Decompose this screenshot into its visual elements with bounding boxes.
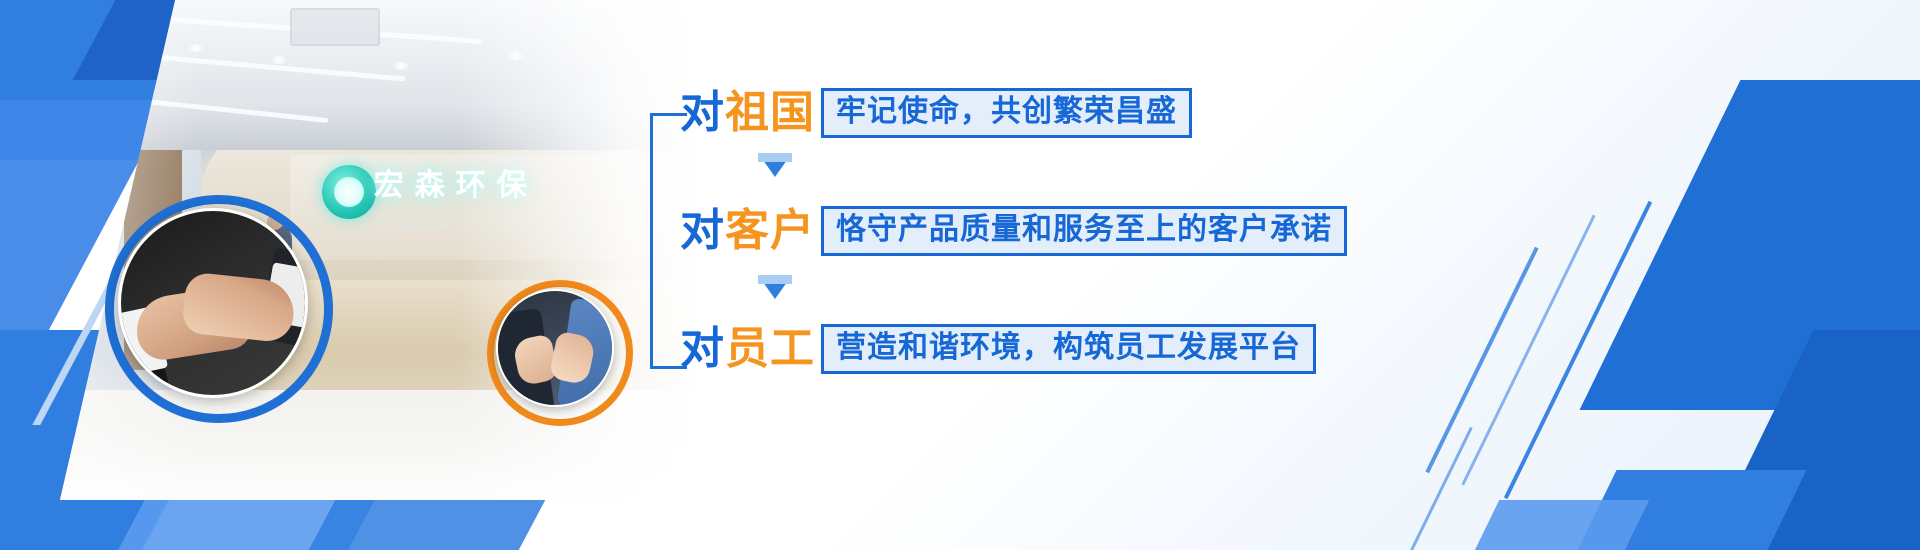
deco-shape-right-3	[1543, 470, 1806, 550]
value-slogan-text: 恪守产品质量和服务至上的客户承诺	[836, 212, 1332, 247]
value-slogan-box-country: 牢记使命，共创繁荣昌盛	[821, 88, 1192, 137]
value-slogan-box-employee: 营造和谐环境，构筑员工发展平台	[821, 324, 1316, 373]
value-heading-employee: 对员工	[680, 327, 815, 371]
value-target: 员工	[725, 324, 815, 373]
value-prefix: 对	[680, 324, 725, 373]
value-slogan-box-customer: 恪守产品质量和服务至上的客户承诺	[821, 206, 1347, 255]
value-row-employee: 对员工 营造和谐环境，构筑员工发展平台	[680, 321, 1380, 377]
deco-shape-right-2	[1687, 330, 1920, 550]
value-prefix: 对	[680, 206, 725, 255]
value-slogan-text: 营造和谐环境，构筑员工发展平台	[836, 330, 1301, 365]
value-target: 祖国	[725, 88, 815, 137]
values-rows: 对祖国 牢记使命，共创繁荣昌盛 对客户 恪守产品质量和服务至上的客户承诺 对员工	[680, 75, 1380, 377]
deco-shape-right-4	[1441, 500, 1650, 550]
handshake-photo	[118, 208, 308, 398]
company-values-banner: 宏森环保 HONGSEN ENVIRONMENTAL	[0, 0, 1920, 550]
value-target: 客户	[725, 206, 815, 255]
value-heading-customer: 对客户	[680, 209, 815, 253]
values-list: 对祖国 牢记使命，共创繁荣昌盛 对客户 恪守产品质量和服务至上的客户承诺 对员工	[650, 75, 1390, 405]
value-slogan-text: 牢记使命，共创繁荣昌盛	[836, 94, 1177, 129]
value-row-country: 对祖国 牢记使命，共创繁荣昌盛	[680, 85, 1380, 141]
value-row-customer: 对客户 恪守产品质量和服务至上的客户承诺	[680, 203, 1380, 259]
value-prefix: 对	[680, 88, 725, 137]
applause-photo	[496, 289, 614, 407]
value-heading-country: 对祖国	[680, 91, 815, 135]
